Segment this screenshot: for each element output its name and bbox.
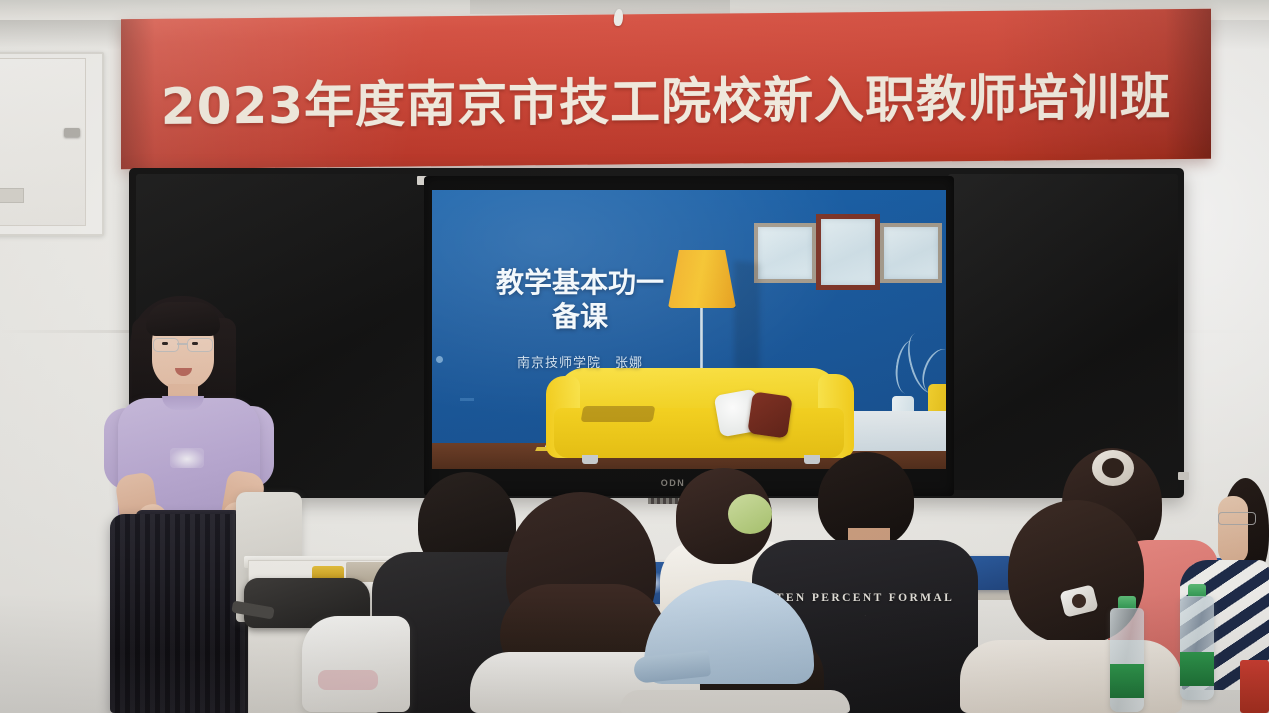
event-banner: 2023年度南京市技工院校新入职教师培训班 <box>121 9 1211 169</box>
frame-inner <box>884 227 938 279</box>
screen-dash-mark <box>460 398 474 401</box>
bottle-label <box>1180 652 1214 686</box>
torso <box>960 640 1182 713</box>
face <box>1218 496 1248 564</box>
projection-screen[interactable]: 教学基本功一 备课 南京技师学院 张娜 <box>432 190 946 469</box>
lamp-shadow <box>734 261 760 372</box>
eyeglasses-icon <box>1218 512 1256 525</box>
presenter-hair-fringe <box>146 302 220 336</box>
frame-inner <box>758 227 812 279</box>
presenter-eye-left <box>162 342 168 345</box>
hair-bun-center <box>1102 458 1124 478</box>
blackboard-right-panel <box>948 174 1178 490</box>
presenter-shirt-graphic <box>170 448 204 468</box>
slide-subtitle: 南京技师学院 张娜 <box>454 352 706 371</box>
slide-sofa-leg-left <box>582 455 598 464</box>
green-scrunchie <box>728 494 772 534</box>
slide-title: 教学基本功一 备课 <box>454 266 706 334</box>
access-panel-label <box>0 188 24 203</box>
slide-picture-frame-right <box>880 223 942 283</box>
slide-sofa-cushion-shadow <box>581 406 656 422</box>
access-panel-handle[interactable] <box>64 128 80 137</box>
glasses-lens-left <box>153 338 179 352</box>
presenter-eye-right <box>192 342 198 345</box>
frame-inner <box>821 219 875 285</box>
glasses-lens-right <box>187 338 213 352</box>
slide-title-line1: 教学基本功一 <box>454 266 706 300</box>
slide-sofa-leg-right <box>804 455 820 464</box>
torso <box>620 690 850 713</box>
ceiling-seam <box>470 0 730 14</box>
screen-light-dot-icon <box>436 356 443 363</box>
slide-pillow-brown <box>747 391 792 438</box>
bottle-label <box>1110 664 1144 698</box>
red-cup <box>1240 660 1269 713</box>
slide-picture-frame-center <box>816 214 880 290</box>
glasses-bridge <box>177 343 187 345</box>
tshirt-print-text: TEN PERCENT FORMAL <box>760 592 970 604</box>
slide-title-line2: 备课 <box>454 300 706 334</box>
classroom-photo: 2023年度南京市技工院校新入职教师培训班 <box>0 0 1269 713</box>
white-plastic-bag <box>302 616 410 712</box>
blackboard-sticker-bottom-right <box>1178 472 1189 480</box>
plastic-bag-contents <box>318 670 378 690</box>
banner-title-text: 2023年度南京市技工院校新入职教师培训班 <box>121 57 1211 139</box>
hair-clip-center <box>1072 594 1086 608</box>
slide-picture-frame-left <box>754 223 816 283</box>
